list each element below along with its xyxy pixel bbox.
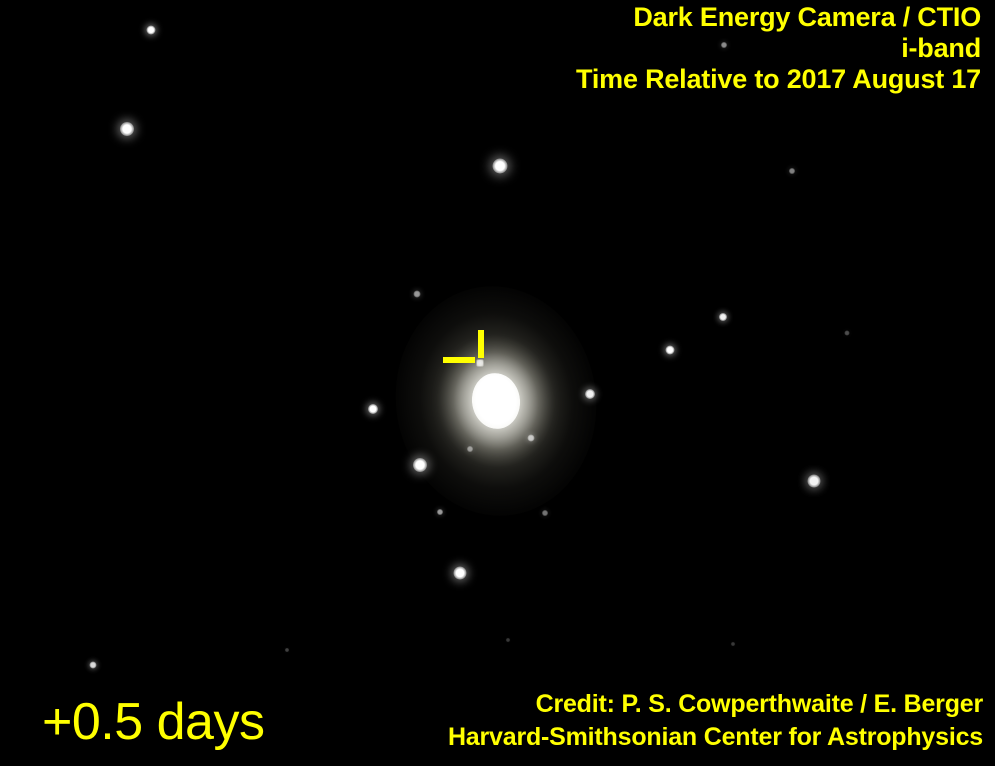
credit-block: Credit: P. S. Cowperthwaite / E. Berger … xyxy=(448,688,983,754)
field-star xyxy=(90,662,97,669)
header-line-epoch-reference: Time Relative to 2017 August 17 xyxy=(576,64,981,95)
field-star xyxy=(454,567,467,580)
field-star xyxy=(285,648,289,652)
astronomy-image-viewer: Dark Energy Camera / CTIO i-band Time Re… xyxy=(0,0,995,766)
field-star xyxy=(413,458,427,472)
crosshair-horizontal-tick xyxy=(443,357,475,363)
field-star xyxy=(528,435,535,442)
header-line-instrument: Dark Energy Camera / CTIO xyxy=(576,2,981,33)
field-star xyxy=(493,159,508,174)
header-line-band: i-band xyxy=(576,33,981,64)
field-star xyxy=(467,446,473,452)
field-star xyxy=(845,331,850,336)
kilonova-point-source xyxy=(477,360,484,367)
credit-line-authors: Credit: P. S. Cowperthwaite / E. Berger xyxy=(448,688,983,721)
field-star xyxy=(542,510,548,516)
field-star xyxy=(808,475,821,488)
field-star xyxy=(437,509,443,515)
field-star xyxy=(789,168,795,174)
field-star xyxy=(666,346,675,355)
field-star xyxy=(368,404,378,414)
field-star xyxy=(585,389,595,399)
sky-image xyxy=(0,0,995,766)
field-star xyxy=(147,26,156,35)
credit-line-institution: Harvard-Smithsonian Center for Astrophys… xyxy=(448,721,983,754)
crosshair-vertical-tick xyxy=(478,330,484,358)
host-galaxy-core xyxy=(468,370,523,432)
field-star xyxy=(719,313,727,321)
epoch-label: +0.5 days xyxy=(42,694,264,750)
field-star xyxy=(120,122,134,136)
field-star xyxy=(414,291,421,298)
field-star xyxy=(731,642,735,646)
host-galaxy-halo xyxy=(381,273,611,529)
field-star xyxy=(506,638,510,642)
instrument-header: Dark Energy Camera / CTIO i-band Time Re… xyxy=(576,2,981,95)
